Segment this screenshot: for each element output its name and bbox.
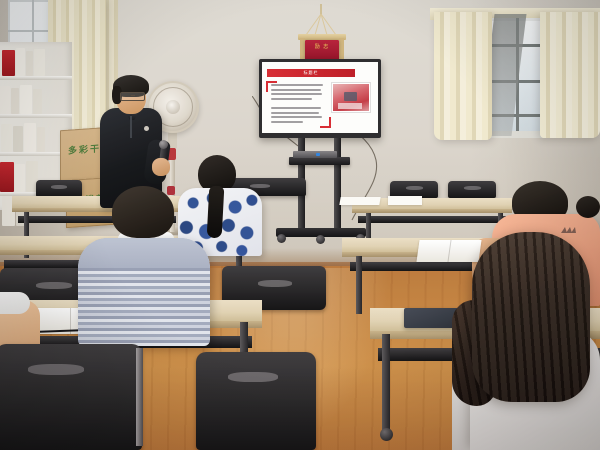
chair-frame-rail [136,348,143,446]
attendee-sleeve-foreground [0,292,30,314]
desk-edge [352,209,512,213]
slide-inset-photo [332,83,370,112]
desk-caster [380,428,393,441]
cart-caster-left [277,234,286,243]
chair-handle-slot [228,372,278,382]
chair-back-foreground-mid[interactable] [196,352,316,450]
desk-leg [356,256,362,314]
fan-height-clamp[interactable] [167,186,175,195]
brand-logo-icon [560,226,576,234]
banner-rope-icon [304,14,338,36]
media-player-device[interactable] [293,151,337,158]
right-curtain-right [540,12,600,138]
cart-caster-mid [316,235,325,244]
chair-handle-slot [51,185,67,189]
chair-handle-slot [28,364,84,375]
chair-handle-slot [406,186,423,190]
chair-back-foreground-left[interactable] [0,344,142,450]
slide-body-text [271,84,323,125]
chair-handle-slot [464,186,481,190]
power-led-indicator [316,153,320,156]
presentation-screen[interactable]: 标题栏 [262,62,378,133]
eyeglasses-icon [120,92,145,101]
attendee-striped-shoulder [78,238,210,268]
attendee-far-right-head [576,196,600,218]
attendee-striped-hair [112,186,174,238]
presenter-placket [130,116,132,138]
slide-header-text: 标题栏 [267,69,355,77]
desk-leg [382,334,390,434]
attendee-longhair-hair [472,232,590,402]
slide-header-bar: 标题栏 [267,69,355,77]
right-curtain-left [434,12,492,140]
chair-handle-slot [36,282,72,289]
fan-hub [166,100,180,114]
cart-shelf [289,157,350,165]
microphone-head-icon [159,140,168,149]
attendee-floral-ponytail [207,186,225,239]
presenter-badge [144,126,149,131]
open-book-mid-right[interactable] [416,240,481,262]
paper-sheet-far[interactable] [388,196,422,205]
banner-plaque: 励 志 [305,40,339,60]
chair-handle-slot [258,280,292,287]
chair-handle-slot [250,184,270,188]
desk-rail [358,216,506,223]
presenter-hand [152,158,170,176]
banner-glyph-text: 励 志 [305,40,339,50]
paper-sheet-far-2[interactable] [339,197,380,205]
classroom-scene: 励 志 多彩干 土楼茶 [0,0,600,450]
